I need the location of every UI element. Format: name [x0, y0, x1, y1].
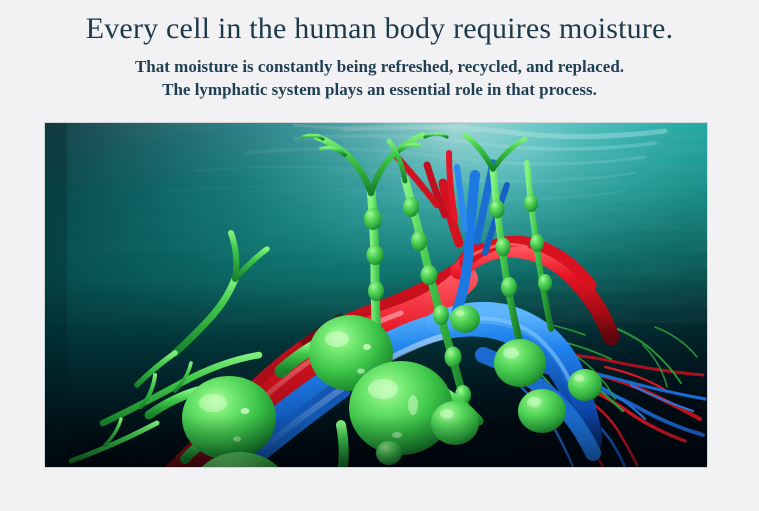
lymphatic-system-graphic: [45, 123, 707, 467]
lymph-node: [450, 305, 480, 333]
subtitle-group: That moisture is constantly being refres…: [0, 55, 759, 101]
page-title: Every cell in the human body requires mo…: [0, 11, 759, 47]
subtitle-line-1: That moisture is constantly being refres…: [0, 55, 759, 78]
text-block: Every cell in the human body requires mo…: [0, 0, 759, 101]
slide-canvas: Every cell in the human body requires mo…: [0, 0, 759, 511]
subtitle-line-2: The lymphatic system plays an essential …: [0, 78, 759, 101]
lymphatic-system-illustration: [45, 123, 707, 467]
